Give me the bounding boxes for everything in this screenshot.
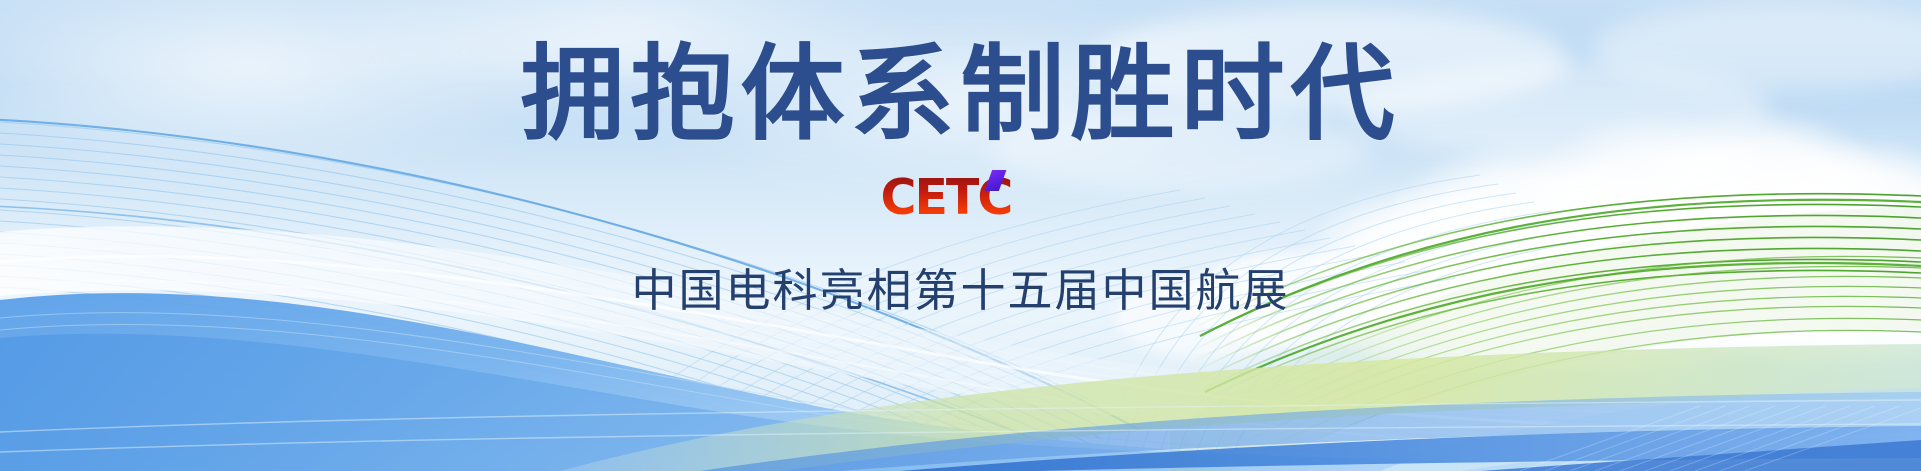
bottom-band-layer	[0, 0, 1921, 471]
cetc-airshow-banner: 拥抱体系制胜时代 CETC 中国电科亮相第十五届中国航展	[0, 0, 1921, 471]
